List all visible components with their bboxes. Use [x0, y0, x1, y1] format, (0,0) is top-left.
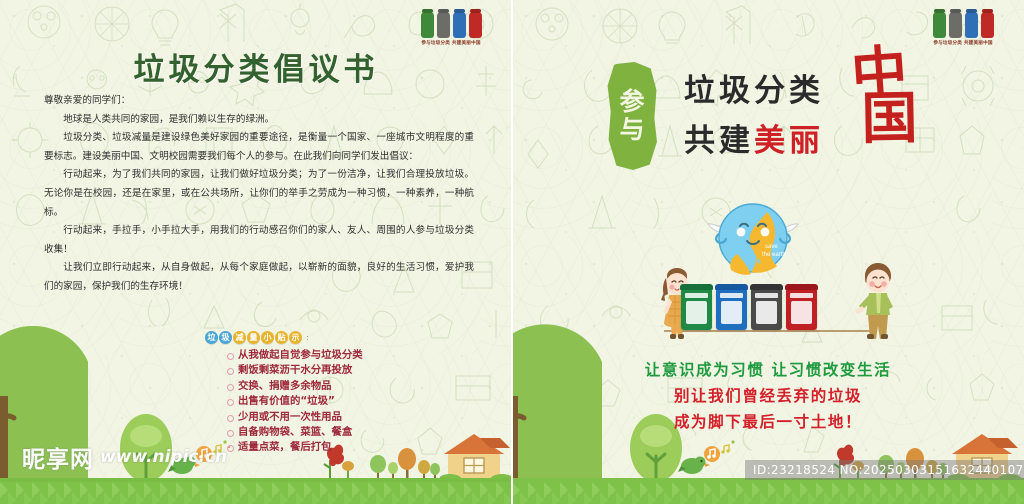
tips-heading-char-4: 量 [247, 331, 260, 344]
recyclable-bin-lid [680, 284, 713, 290]
list-item: 交换、捐赠多余物品 [227, 379, 435, 394]
tips-heading-char-2: 圾 [219, 331, 232, 344]
logo-red-bin [981, 12, 994, 38]
tips-heading-colon: ： [306, 333, 312, 342]
kitchen-waste-bin-lid [785, 284, 818, 290]
logo-caption: 参与垃圾分类 共建美丽中国 [400, 40, 502, 46]
paragraph-3: 行动起来，为了我们共同的家园，让我们做好垃圾分类；为了一份洁净，让我们合理投放垃… [44, 166, 474, 222]
house-illustration [440, 432, 512, 482]
paragraph-2: 垃圾分类、垃圾减量是建设绿色美好家园的重要途径，是衡量一个国家、一座城市文明程度… [44, 129, 474, 166]
badge-char-1: 参 [619, 89, 644, 115]
headline-line-2-black: 共建 [684, 123, 754, 159]
site-url: www.nipic.cn [100, 447, 227, 467]
tips-heading: 垃 圾 减 量 小 贴 示 ： [205, 331, 435, 344]
paragraph-4: 行动起来，手拉手，小手拉大手，用我们的行动感召你们的家人、友人、周围的人参与垃圾… [44, 222, 474, 259]
panel-divider [511, 0, 513, 504]
tips-heading-char-1: 垃 [205, 331, 218, 344]
left-panel: 参与垃圾分类 共建美丽中国 垃圾分类倡议书 尊敬亲爱的同学们： 地球是人类共同的… [0, 0, 512, 504]
logo-gray-bin [437, 12, 450, 38]
tips-heading-char-3: 减 [233, 331, 246, 344]
campaign-logo-right: 参与垃圾分类 共建美丽中国 [912, 8, 1014, 46]
paragraph-1: 地球是人类共同的家园，是我们赖以生存的绿洲。 [44, 111, 474, 130]
headline-line-1: 垃圾分类 [684, 76, 824, 107]
campaign-logo-left: 参与垃圾分类 共建美丽中国 [400, 8, 502, 46]
other-waste-bin-label [755, 293, 778, 298]
tips-heading-char-7: 示 [289, 331, 302, 344]
boy-illustration [855, 262, 901, 340]
hazardous-bin [716, 288, 747, 330]
headline-line-2: 共建美丽 [684, 126, 824, 157]
other-waste-bin [751, 288, 782, 330]
logo-blue-bin [453, 12, 466, 38]
site-name: 昵享网 [22, 440, 94, 474]
recyclable-bin-label [685, 293, 708, 298]
classified-bins-row [681, 288, 817, 330]
grass-strip-right [512, 478, 1024, 504]
list-item: 出售有价值的“垃圾” [227, 394, 435, 409]
earth-mascot-illustration: save the earth [707, 192, 799, 284]
image-id-watermark: ID:23218524 NO:20250303151632440107 [745, 460, 1024, 480]
hazardous-bin-label [720, 293, 743, 298]
logo-bins [400, 8, 502, 38]
kitchen-waste-bin [786, 288, 817, 330]
participate-brush-badge: 参 与 [606, 62, 658, 170]
music-note-bubble-right [702, 438, 740, 464]
logo-bins-right [912, 8, 1014, 38]
poster-root: 参与垃圾分类 共建美丽中国 垃圾分类倡议书 尊敬亲爱的同学们： 地球是人类共同的… [0, 0, 1024, 504]
kitchen-waste-bin-icon [791, 301, 812, 324]
list-item: 少用或不用一次性用品 [227, 410, 435, 425]
recyclable-bin [681, 288, 712, 330]
slogan-line-3: 成为脚下最后一寸土地！ [512, 410, 1024, 432]
logo-green-bin [933, 12, 946, 38]
badge-char-2: 与 [619, 117, 644, 143]
slogan-line-2: 别让我们曾经丢弃的垃圾 [512, 384, 1024, 406]
hazardous-bin-lid [715, 284, 748, 290]
china-calligraphy: 中 国 [843, 46, 920, 148]
kitchen-waste-bin-label [790, 293, 813, 298]
list-item: 从我做起自觉参与垃圾分类 [227, 348, 435, 363]
calligraphy-char-guo: 国 [861, 92, 918, 144]
hazardous-bin-icon [721, 301, 742, 324]
tips-block: 垃 圾 减 量 小 贴 示 ： 从我做起自觉参与垃圾分类 剩饭剩菜沥干水分再投放… [205, 331, 435, 456]
svg-text:the earth: the earth [762, 252, 786, 258]
slogan-line-1: 让意识成为习惯 让习惯改变生活 [512, 358, 1024, 380]
letter-body: 尊敬亲爱的同学们： 地球是人类共同的家园，是我们赖以生存的绿洲。 垃圾分类、垃圾… [44, 92, 474, 297]
other-waste-bin-icon [756, 301, 777, 324]
page-title: 垃圾分类倡议书 [0, 44, 512, 89]
paragraph-5: 让我们立即行动起来，从自身做起，从每个家庭做起，以崭新的面貌，良好的生活习惯，爱… [44, 259, 474, 296]
logo-green-bin [421, 12, 434, 38]
grass-strip [0, 478, 512, 504]
list-item: 自备购物袋、菜篮、餐盒 [227, 425, 435, 440]
tips-heading-char-5: 小 [261, 331, 274, 344]
list-item: 剩饭剩菜沥干水分再投放 [227, 363, 435, 378]
logo-gray-bin [949, 12, 962, 38]
headline-line-2-red: 美丽 [754, 123, 824, 159]
logo-caption-right: 参与垃圾分类 共建美丽中国 [912, 40, 1014, 46]
earth-save-text: save [765, 244, 778, 250]
tips-list: 从我做起自觉参与垃圾分类 剩饭剩菜沥干水分再投放 交换、捐赠多余物品 出售有价值… [227, 348, 435, 456]
logo-red-bin [469, 12, 482, 38]
site-watermark: 昵享网 www.nipic.cn [22, 440, 227, 474]
salutation: 尊敬亲爱的同学们： [44, 92, 474, 111]
tips-heading-char-6: 贴 [275, 331, 288, 344]
logo-blue-bin [965, 12, 978, 38]
list-item: 适量点菜，餐后打包 [227, 440, 435, 455]
other-waste-bin-lid [750, 284, 783, 290]
recyclable-bin-icon [686, 301, 707, 324]
